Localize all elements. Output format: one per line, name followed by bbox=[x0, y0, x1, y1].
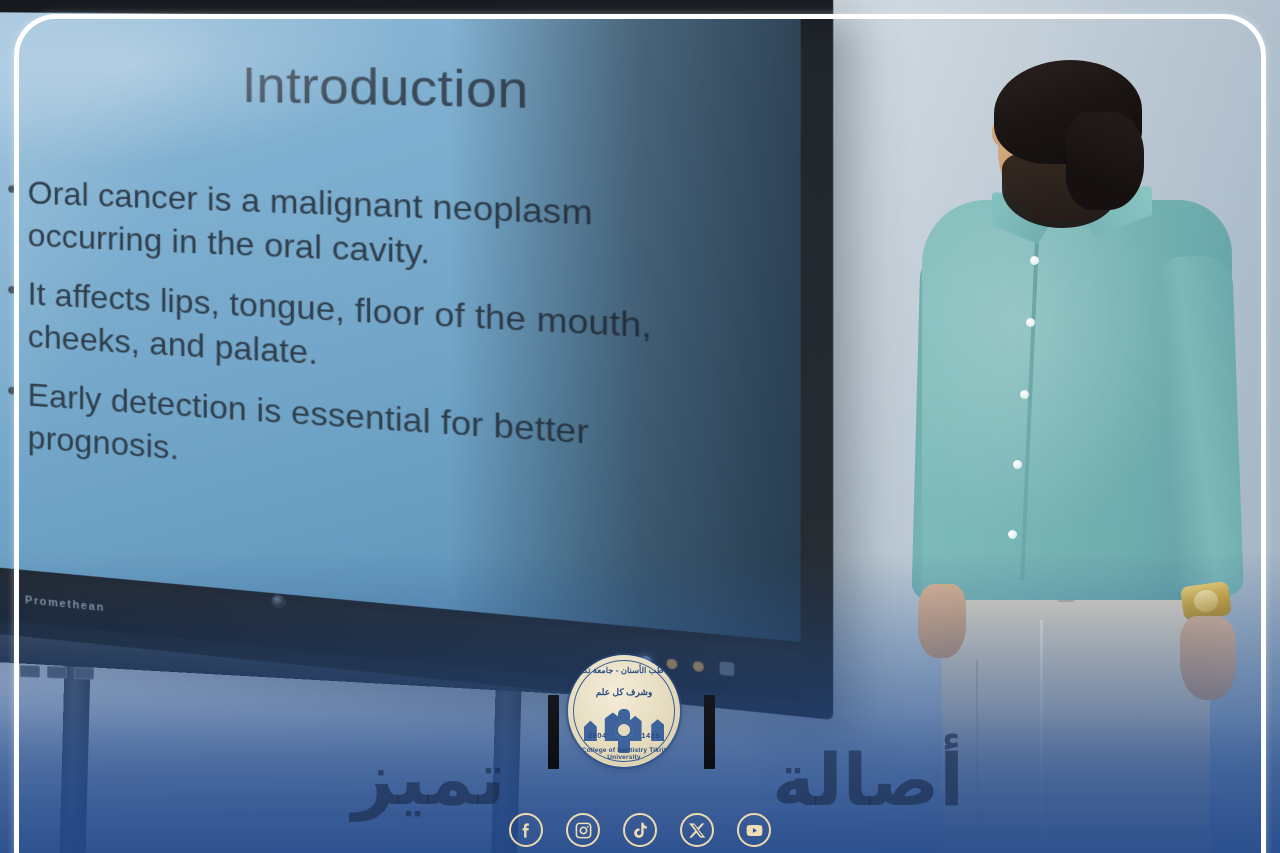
slide-title: Introduction bbox=[43, 53, 759, 126]
youtube-icon[interactable] bbox=[737, 813, 771, 847]
seal-arabic-inner: وشرف كل علم bbox=[568, 687, 680, 698]
branding-bar: كلية طب الأسنان - جامعة تكريت وشرف كل عل… bbox=[0, 643, 1280, 853]
social-links-row[interactable] bbox=[0, 813, 1280, 847]
shirt-button bbox=[1030, 256, 1039, 265]
camera-icon bbox=[271, 594, 285, 609]
tiktok-icon[interactable] bbox=[623, 813, 657, 847]
interactive-display[interactable]: Introduction • Oral cancer is a malignan… bbox=[0, 0, 770, 650]
shirt-button bbox=[1020, 390, 1029, 399]
divider-bar-right bbox=[704, 695, 715, 769]
seal-year-gregorian: 2004 bbox=[588, 731, 607, 740]
presentation-slide: Introduction • Oral cancer is a malignan… bbox=[0, 12, 801, 642]
shirt-button bbox=[1026, 318, 1035, 327]
seal-year-hijri: 1425 bbox=[641, 731, 660, 740]
instagram-icon[interactable] bbox=[566, 813, 600, 847]
seal-english-text: College of Dentistry Tikrit University bbox=[568, 747, 680, 761]
slide-bullet-list: • Oral cancer is a malignant neoplasm oc… bbox=[3, 171, 759, 514]
facebook-icon[interactable] bbox=[509, 813, 543, 847]
bullet-marker-icon: • bbox=[7, 172, 17, 257]
x-icon[interactable] bbox=[680, 813, 714, 847]
photo-canvas: Introduction • Oral cancer is a malignan… bbox=[0, 0, 1280, 853]
display-bezel: Introduction • Oral cancer is a malignan… bbox=[0, 0, 833, 720]
divider-bar-left bbox=[548, 695, 559, 769]
shirt-button bbox=[1013, 460, 1022, 469]
bullet-marker-icon: • bbox=[7, 272, 17, 357]
bullet-text: Early detection is essential for better … bbox=[28, 374, 709, 510]
bullet-text: Oral cancer is a malignant neoplasm occu… bbox=[28, 172, 709, 287]
bullet-marker-icon: • bbox=[7, 373, 17, 458]
shirt-button bbox=[1008, 530, 1017, 539]
university-seal-logo: كلية طب الأسنان - جامعة تكريت وشرف كل عل… bbox=[568, 655, 680, 767]
slide-bullet-item: • Oral cancer is a malignant neoplasm oc… bbox=[7, 172, 759, 290]
display-brand-label: Promethean bbox=[25, 594, 105, 614]
seal-star-icon bbox=[615, 721, 633, 739]
presenter-right-arm bbox=[1162, 255, 1244, 597]
display-screen[interactable]: Introduction • Oral cancer is a malignan… bbox=[0, 12, 801, 642]
seal-arabic-outer: كلية طب الأسنان - جامعة تكريت bbox=[568, 666, 680, 675]
presenter-hair-side bbox=[1066, 112, 1144, 210]
display-inner-bezel: Introduction • Oral cancer is a malignan… bbox=[0, 12, 801, 642]
